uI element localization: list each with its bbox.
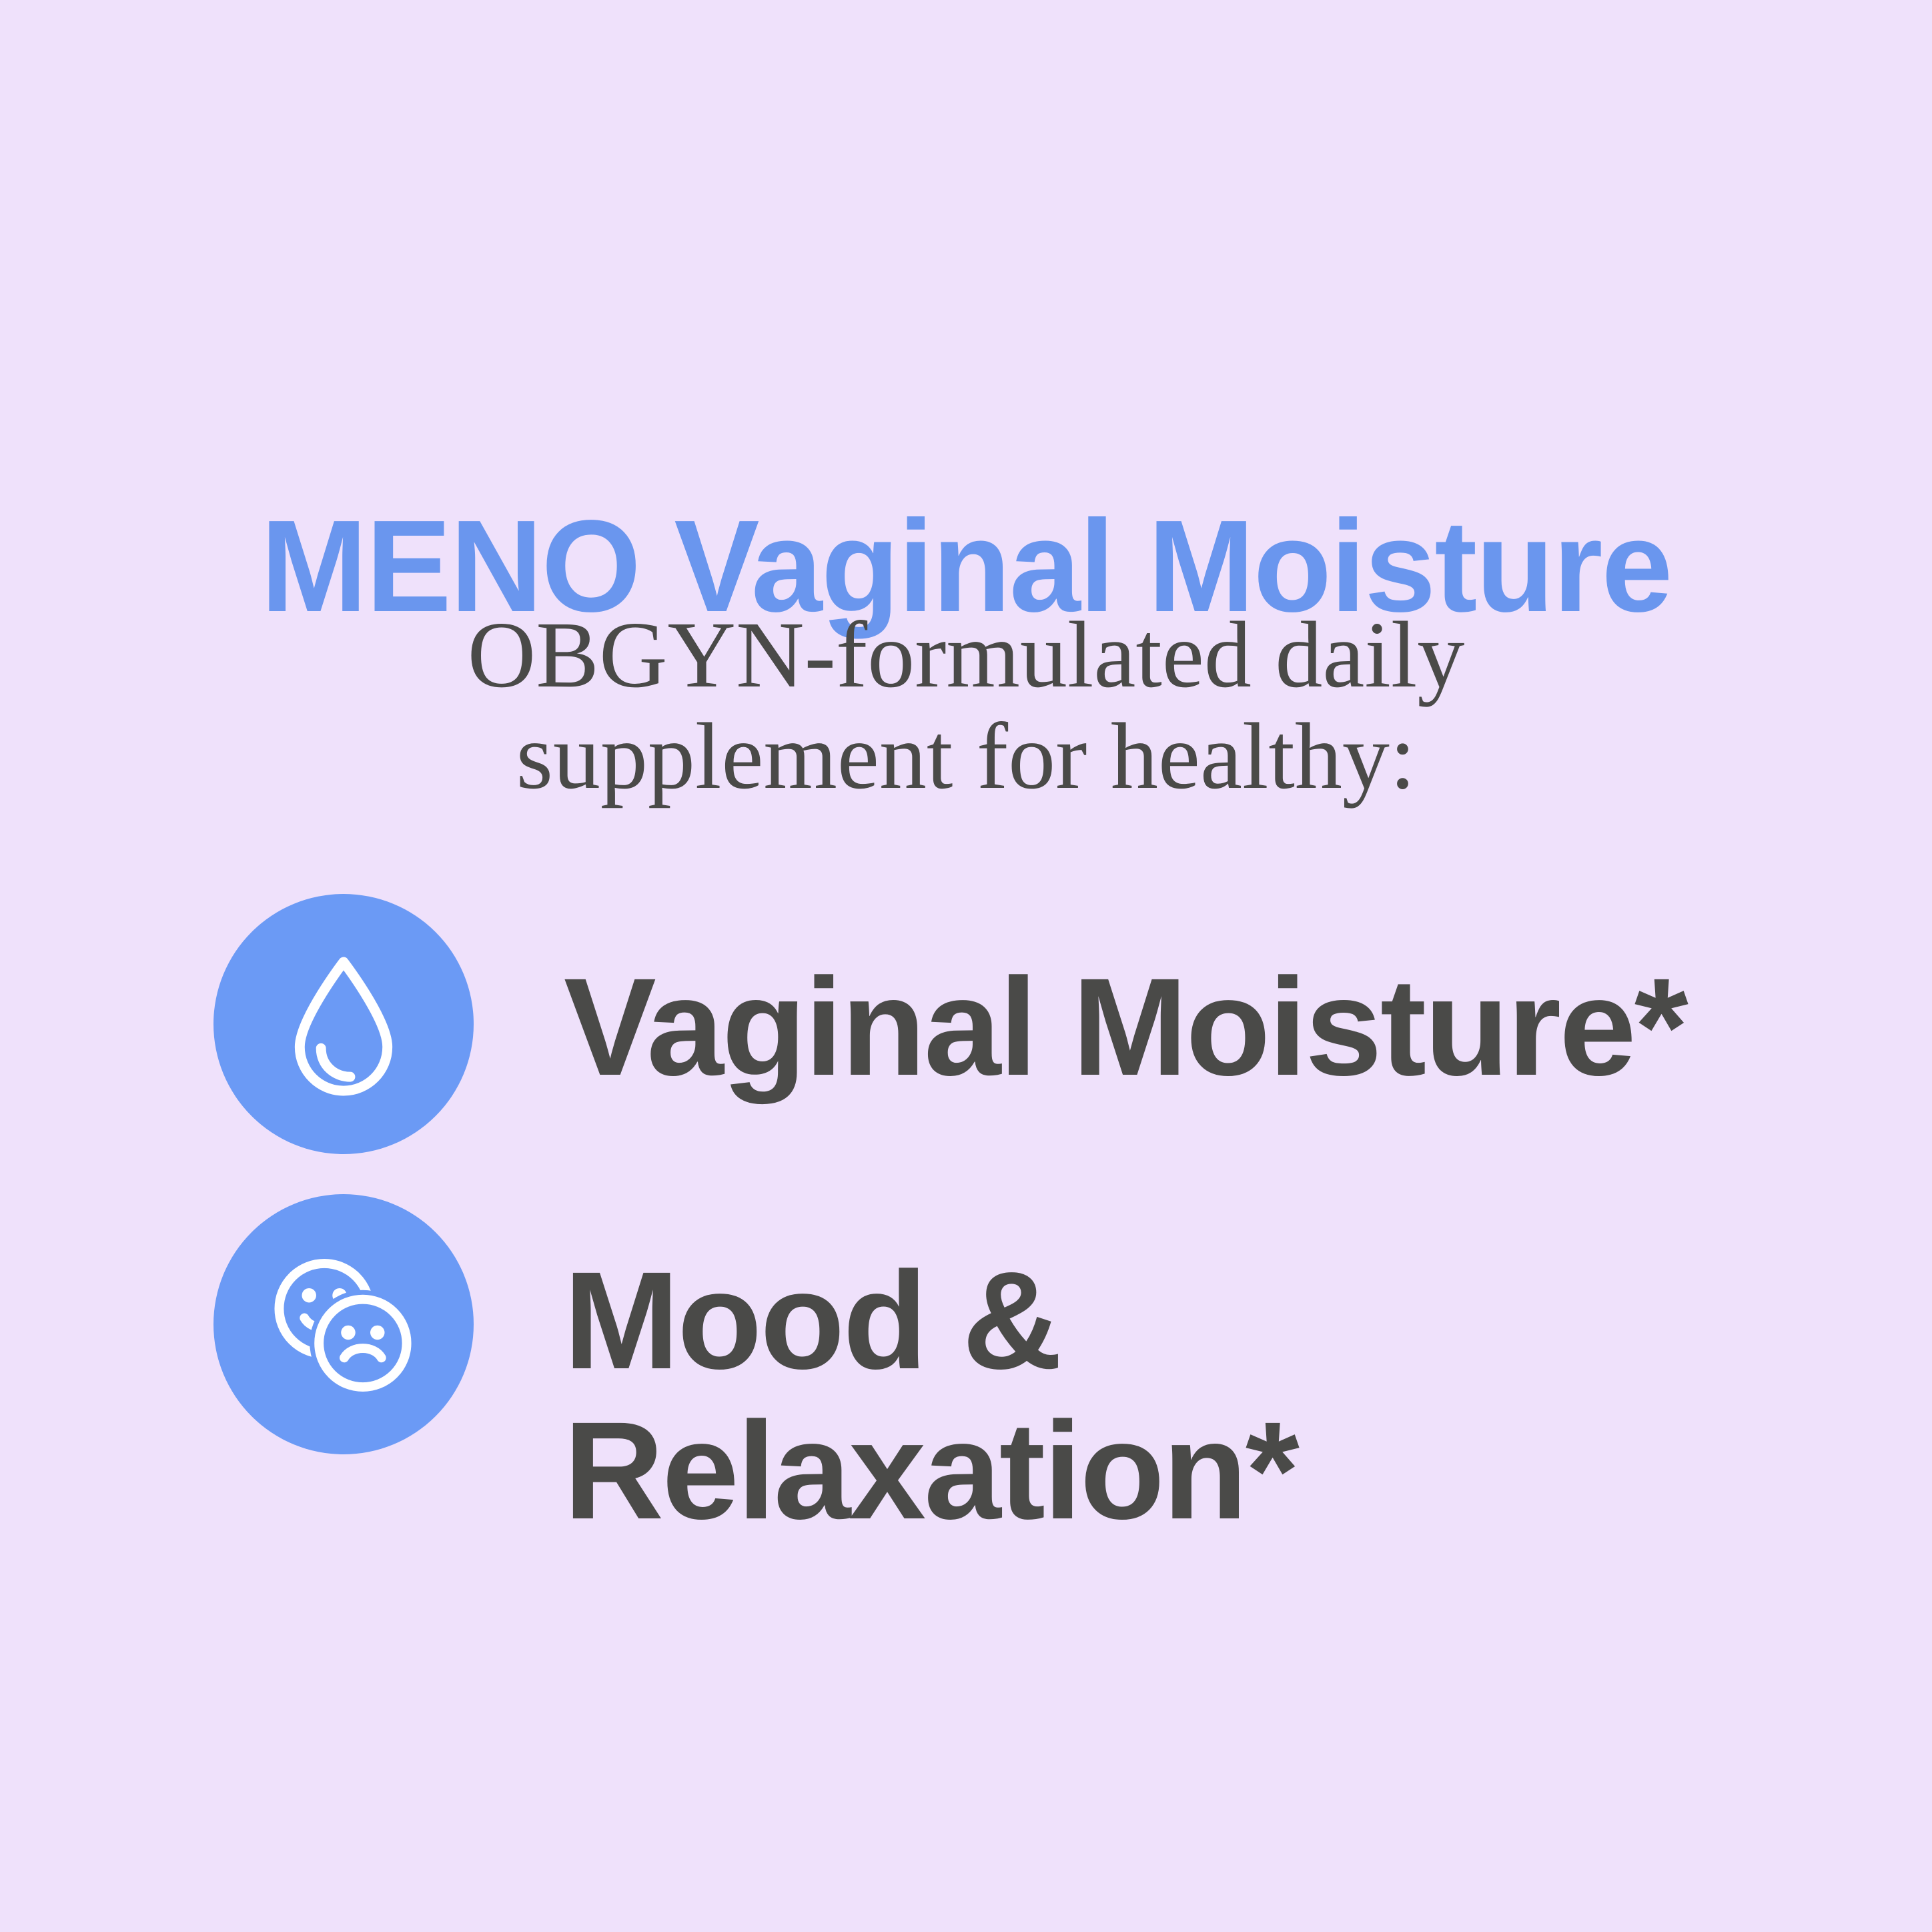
list-item-label: Mood & Relaxation*: [564, 1194, 1815, 1546]
water-droplet-icon: [284, 953, 404, 1096]
benefits-list: Vaginal Moisture*: [213, 894, 1815, 1573]
benefit-icon-badge: [213, 1194, 474, 1454]
list-item: Mood & Relaxation*: [213, 1194, 1815, 1546]
subtitle-line-1: OBGYN-formulated daily: [0, 604, 1932, 705]
list-item: Vaginal Moisture*: [213, 894, 1815, 1154]
list-item-label: Vaginal Moisture*: [564, 894, 1815, 1103]
benefit-icon-badge: [213, 894, 474, 1154]
subtitle-line-2: supplement for healthy:: [0, 705, 1932, 807]
subtitle: OBGYN-formulated daily supplement for he…: [0, 604, 1932, 807]
product-benefits-poster: MENO Vaginal Moisture OBGYN-formulated d…: [0, 0, 1932, 1932]
happy-sad-faces-icon: [267, 1253, 420, 1396]
